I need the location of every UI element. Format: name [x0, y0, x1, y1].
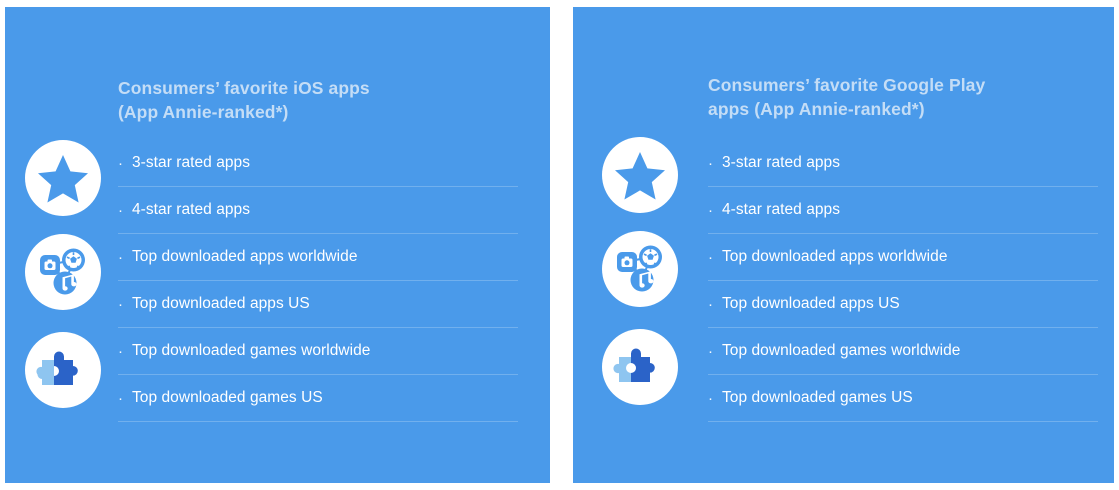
bullet-icon: · — [118, 250, 132, 265]
list-item[interactable]: · Top downloaded apps worldwide — [118, 234, 518, 281]
puzzle-piece-icon — [25, 332, 101, 408]
puzzle-piece-icon — [602, 329, 678, 405]
list-item[interactable]: · 4-star rated apps — [708, 187, 1098, 234]
panel-ios: Consumers’ favorite iOS apps (App Annie-… — [5, 7, 550, 483]
bullet-icon: · — [118, 203, 132, 218]
slide-canvas: Consumers’ favorite iOS apps (App Annie-… — [0, 0, 1119, 490]
bullet-icon: · — [708, 156, 722, 171]
bullet-icon: · — [708, 203, 722, 218]
list-item[interactable]: · 3-star rated apps — [118, 140, 518, 187]
bullet-icon: · — [118, 344, 132, 359]
list-item-label: Top downloaded apps worldwide — [132, 247, 358, 267]
list-item-label: Top downloaded games worldwide — [722, 341, 960, 361]
list-item[interactable]: · Top downloaded apps US — [118, 281, 518, 328]
list-item[interactable]: · Top downloaded games US — [708, 375, 1098, 422]
list-item-label: 4-star rated apps — [132, 200, 250, 220]
list-item[interactable]: · 4-star rated apps — [118, 187, 518, 234]
panel-title-google-play: Consumers’ favorite Google Play apps (Ap… — [708, 73, 1098, 121]
bullet-icon: · — [708, 344, 722, 359]
list-item[interactable]: · Top downloaded apps worldwide — [708, 234, 1098, 281]
bullet-icon: · — [118, 297, 132, 312]
bullet-icon: · — [708, 391, 722, 406]
feature-list-google-play: · 3-star rated apps · 4-star rated apps … — [708, 140, 1098, 422]
list-item-label: 3-star rated apps — [722, 153, 840, 173]
list-item[interactable]: · Top downloaded games US — [118, 375, 518, 422]
list-item-label: Top downloaded games worldwide — [132, 341, 370, 361]
bullet-icon: · — [708, 297, 722, 312]
list-item-label: 4-star rated apps — [722, 200, 840, 220]
apps-network-icon — [25, 234, 101, 310]
list-item-label: Top downloaded games US — [132, 388, 323, 408]
list-item-label: 3-star rated apps — [132, 153, 250, 173]
list-item-label: Top downloaded apps US — [722, 294, 900, 314]
list-item[interactable]: · 3-star rated apps — [708, 140, 1098, 187]
panel-title-ios: Consumers’ favorite iOS apps (App Annie-… — [118, 76, 518, 124]
list-item[interactable]: · Top downloaded games worldwide — [708, 328, 1098, 375]
star-icon — [602, 137, 678, 213]
list-item[interactable]: · Top downloaded apps US — [708, 281, 1098, 328]
bullet-icon: · — [118, 156, 132, 171]
list-item-label: Top downloaded apps US — [132, 294, 310, 314]
apps-network-icon — [602, 231, 678, 307]
list-item-label: Top downloaded games US — [722, 388, 913, 408]
feature-list-ios: · 3-star rated apps · 4-star rated apps … — [118, 140, 518, 422]
panel-google-play: Consumers’ favorite Google Play apps (Ap… — [573, 7, 1114, 483]
star-icon — [25, 140, 101, 216]
bullet-icon: · — [118, 391, 132, 406]
bullet-icon: · — [708, 250, 722, 265]
list-item[interactable]: · Top downloaded games worldwide — [118, 328, 518, 375]
list-item-label: Top downloaded apps worldwide — [722, 247, 948, 267]
